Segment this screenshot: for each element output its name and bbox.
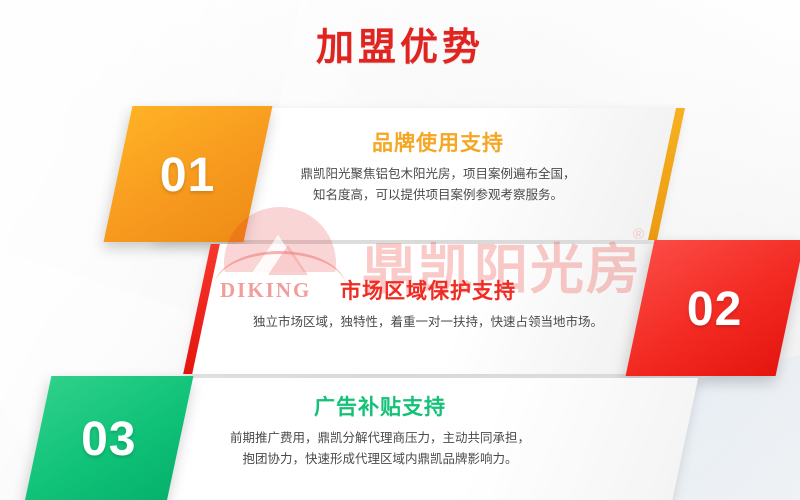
page-title: 加盟优势 [0, 16, 800, 71]
panel-number: 03 [38, 416, 180, 464]
panel-number-block: 02 [626, 240, 800, 376]
panel-text: 市场区域保护支持 独立市场区域，独特性，着重一对一扶持，快速占领当地市场。 [228, 280, 628, 333]
panel-description: 鼎凯阳光聚焦铝包木阳光房，项目案例遍布全国， 知名度高，可以提供项目案例参观考察… [238, 164, 638, 205]
advantage-panel-1: 01 品牌使用支持 鼎凯阳光聚焦铝包木阳光房，项目案例遍布全国， 知名度高，可以… [0, 100, 800, 250]
advantage-panel-3: 03 广告补贴支持 前期推广费用，鼎凯分解代理商压力，主动共同承担， 抱团协力，… [0, 372, 800, 500]
panel-number: 01 [118, 152, 258, 200]
infographic-canvas: 加盟优势 01 品牌使用支持 鼎凯阳光聚焦铝包木阳光房，项目案例遍布全国， 知名… [0, 0, 800, 500]
panel-text: 广告补贴支持 前期推广费用，鼎凯分解代理商压力，主动共同承担， 抱团协力，快速形… [180, 396, 580, 469]
panel-description: 前期推广费用，鼎凯分解代理商压力，主动共同承担， 抱团协力，快速形成代理区域内鼎… [180, 428, 580, 469]
panel-heading: 品牌使用支持 [238, 132, 638, 155]
panel-heading: 广告补贴支持 [180, 396, 580, 419]
advantage-panel-2: 02 市场区域保护支持 独立市场区域，独特性，着重一对一扶持，快速占领当地市场。 [0, 238, 800, 380]
panel-text: 品牌使用支持 鼎凯阳光聚焦铝包木阳光房，项目案例遍布全国， 知名度高，可以提供项… [238, 132, 638, 205]
panel-number-block: 03 [25, 376, 194, 500]
panel-number: 02 [640, 286, 790, 334]
panel-heading: 市场区域保护支持 [228, 280, 628, 303]
panel-description: 独立市场区域，独特性，着重一对一扶持，快速占领当地市场。 [228, 312, 628, 333]
